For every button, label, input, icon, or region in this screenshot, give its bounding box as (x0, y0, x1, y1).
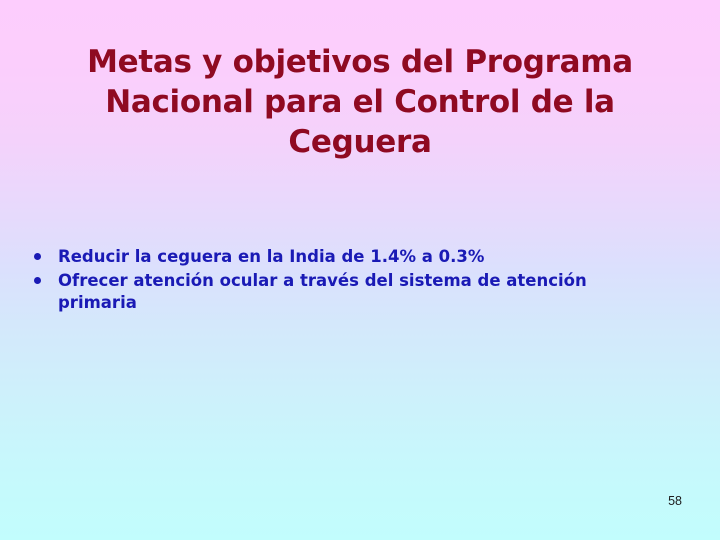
slide-canvas: Metas y objetivos del Programa Nacional … (0, 0, 720, 540)
slide-title: Metas y objetivos del Programa Nacional … (36, 42, 684, 162)
page-number: 58 (668, 494, 682, 508)
bullet-dot-icon (34, 277, 41, 284)
bullet-text-1: Reducir la ceguera en la India de 1.4% a… (58, 246, 630, 268)
list-item: Ofrecer atención ocular a través del sis… (30, 270, 630, 314)
list-item: Reducir la ceguera en la India de 1.4% a… (30, 246, 630, 268)
bullet-dot-icon (34, 253, 41, 260)
bullet-text-2: Ofrecer atención ocular a través del sis… (58, 270, 630, 314)
title-line-1: Metas y objetivos del Programa (36, 42, 684, 82)
title-line-2: Nacional para el Control de la (36, 82, 684, 122)
title-line-3: Ceguera (36, 122, 684, 162)
slide-body: Reducir la ceguera en la India de 1.4% a… (30, 246, 630, 316)
